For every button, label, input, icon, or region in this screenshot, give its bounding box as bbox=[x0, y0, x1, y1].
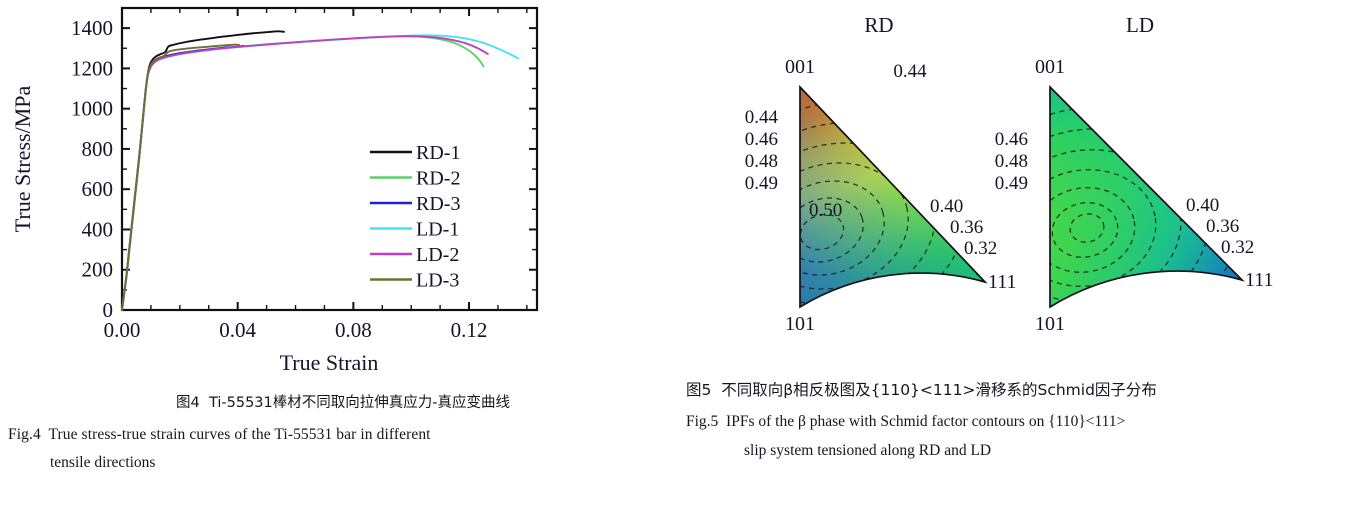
x-tick-label: 0.08 bbox=[335, 318, 372, 342]
figure-5-panel: RD LD 001 101 111 0.44 0.44 0.46 0.48 0.… bbox=[672, 0, 1348, 520]
legend-label-ld-1: LD-1 bbox=[416, 219, 459, 241]
y-tick-label: 400 bbox=[82, 217, 114, 241]
caption-en-line2: tensile directions bbox=[0, 447, 672, 475]
rd-contour-label-left-1: 0.46 bbox=[745, 129, 778, 150]
y-tick-label: 1200 bbox=[71, 56, 113, 80]
ld-panel-title: LD bbox=[1126, 13, 1154, 37]
caption5-zh: 图5 不同取向β相反极图及{110}<111>滑移系的Schmid因子分布 bbox=[672, 378, 1348, 403]
legend-label-rd-1: RD-1 bbox=[416, 142, 460, 164]
y-tick-label: 1000 bbox=[71, 97, 113, 121]
x-tick-label: 0.12 bbox=[451, 318, 488, 342]
rd-vertex-001-label: 001 bbox=[785, 56, 815, 78]
ld-vertex-001-label: 001 bbox=[1035, 56, 1065, 78]
legend-label-ld-2: LD-2 bbox=[416, 244, 459, 266]
caption5-en-line2: slip system tensioned along RD and LD bbox=[672, 435, 1348, 464]
rd-panel-title: RD bbox=[864, 13, 893, 37]
rd-contour-label-left-0: 0.44 bbox=[745, 107, 779, 128]
y-axis-label: True Stress/MPa bbox=[10, 86, 35, 233]
rd-contour-label-left-2: 0.48 bbox=[745, 151, 778, 172]
rd-contour-label-right-2: 0.32 bbox=[964, 238, 997, 259]
figure-page: 0.000.040.080.12020040060080010001200140… bbox=[0, 0, 1348, 520]
legend-label-ld-3: LD-3 bbox=[416, 270, 459, 292]
legend-label-rd-2: RD-2 bbox=[416, 168, 460, 190]
caption5-en-line1: Fig.5 IPFs of the β phase with Schmid fa… bbox=[672, 403, 1348, 435]
ld-contour-label-left-2: 0.49 bbox=[995, 173, 1028, 194]
rd-contour-label-right-0: 0.40 bbox=[930, 196, 963, 217]
ld-contour-label-left-1: 0.48 bbox=[995, 151, 1028, 172]
caption-en-line1: Fig.4 True stress-true strain curves of … bbox=[0, 414, 672, 447]
rd-contour-label-top: 0.44 bbox=[893, 61, 927, 82]
figure-4-panel: 0.000.040.080.12020040060080010001200140… bbox=[0, 0, 672, 520]
rd-contour-label-right-1: 0.36 bbox=[950, 217, 983, 238]
rd-vertex-101-label: 101 bbox=[785, 313, 815, 335]
ld-vertex-101-label: 101 bbox=[1035, 313, 1065, 335]
ld-contour-label-right-0: 0.40 bbox=[1186, 195, 1219, 216]
ld-contour-label-left-0: 0.46 bbox=[995, 129, 1028, 150]
y-tick-label: 1400 bbox=[71, 16, 113, 40]
ld-contour-label-right-2: 0.32 bbox=[1221, 237, 1254, 258]
ipf-chart: RD LD 001 101 111 0.44 0.44 0.46 0.48 0.… bbox=[672, 0, 1348, 370]
x-axis-label: True Strain bbox=[280, 350, 379, 375]
stress-strain-chart: 0.000.040.080.12020040060080010001200140… bbox=[0, 0, 600, 385]
rd-vertex-111-label: 111 bbox=[988, 271, 1017, 293]
caption-zh: 图4 Ti-55531棒材不同取向拉伸真应力-真应变曲线 bbox=[0, 392, 672, 414]
ld-contour-label-right-1: 0.36 bbox=[1206, 216, 1239, 237]
rd-contour-label-inner: 0.50 bbox=[809, 200, 842, 221]
x-tick-label: 0.04 bbox=[219, 318, 256, 342]
figure-4-caption: 图4 Ti-55531棒材不同取向拉伸真应力-真应变曲线 Fig.4 True … bbox=[0, 392, 672, 476]
y-tick-label: 800 bbox=[82, 137, 114, 161]
y-tick-label: 0 bbox=[103, 298, 114, 322]
y-tick-label: 600 bbox=[82, 177, 114, 201]
ld-vertex-111-label: 111 bbox=[1245, 269, 1274, 291]
legend-label-rd-3: RD-3 bbox=[416, 193, 460, 215]
y-tick-label: 200 bbox=[82, 258, 114, 282]
rd-contour-label-left-3: 0.49 bbox=[745, 173, 778, 194]
figure-5-caption: 图5 不同取向β相反极图及{110}<111>滑移系的Schmid因子分布 Fi… bbox=[672, 378, 1348, 463]
